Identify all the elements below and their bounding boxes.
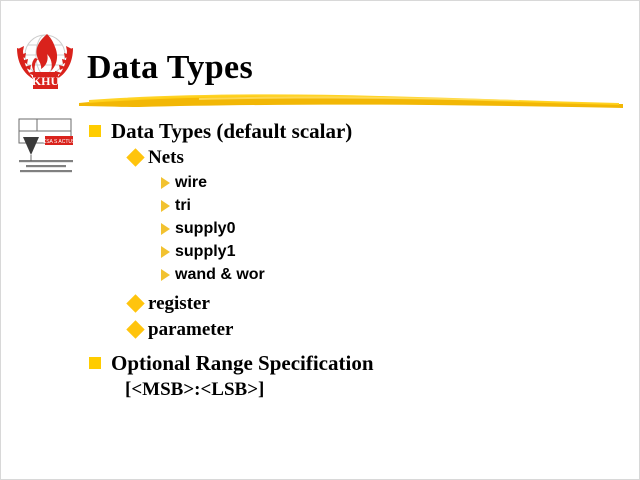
outline-item-label: tri xyxy=(175,194,191,217)
title-underline-brush xyxy=(79,91,623,109)
khu-wordmark: KHU xyxy=(32,74,60,88)
lab-logo-badge-text: CSA S ACTUS xyxy=(43,139,76,145)
arrow-bullet-icon xyxy=(161,200,170,212)
outline-item-label: parameter xyxy=(148,317,233,343)
arrow-bullet-icon xyxy=(161,246,170,258)
outline-item-register: register xyxy=(129,291,629,317)
arrow-bullet-icon xyxy=(161,223,170,235)
slide: KHU CSA S ACTUS Data Types xyxy=(0,0,640,480)
diamond-bullet-icon xyxy=(126,294,144,312)
square-bullet-icon xyxy=(89,125,101,137)
lab-logo: CSA S ACTUS xyxy=(15,115,77,177)
outline-item-supply1: supply1 xyxy=(161,240,629,263)
outline-item-nets: Nets xyxy=(129,145,629,171)
outline-item-label: supply0 xyxy=(175,217,235,240)
outline-item-label: supply1 xyxy=(175,240,235,263)
arrow-bullet-icon xyxy=(161,269,170,281)
diamond-bullet-icon xyxy=(126,320,144,338)
outline-item-data-types: Data Types (default scalar) xyxy=(89,117,629,145)
outline-item-label: wand & wor xyxy=(175,263,265,286)
diamond-bullet-icon xyxy=(126,148,144,166)
khu-crest-logo: KHU xyxy=(11,28,79,96)
outline-item-label: wire xyxy=(175,171,207,194)
outline-item-label: Nets xyxy=(148,145,184,171)
page-title: Data Types xyxy=(87,48,253,88)
outline-item-label: Optional Range Specification xyxy=(111,349,374,377)
outline-item-wand-wor: wand & wor xyxy=(161,263,629,286)
outline-item-parameter: parameter xyxy=(129,317,629,343)
arrow-bullet-icon xyxy=(161,177,170,189)
outline-body: Data Types (default scalar) Nets wire tr… xyxy=(89,117,629,403)
outline-item-label: Data Types (default scalar) xyxy=(111,117,352,145)
range-syntax-text: [<MSB>:<LSB>] xyxy=(125,377,629,403)
outline-item-optional-range: Optional Range Specification xyxy=(89,349,629,377)
square-bullet-icon xyxy=(89,357,101,369)
outline-item-wire: wire xyxy=(161,171,629,194)
outline-item-label: register xyxy=(148,291,210,317)
outline-item-supply0: supply0 xyxy=(161,217,629,240)
outline-item-tri: tri xyxy=(161,194,629,217)
